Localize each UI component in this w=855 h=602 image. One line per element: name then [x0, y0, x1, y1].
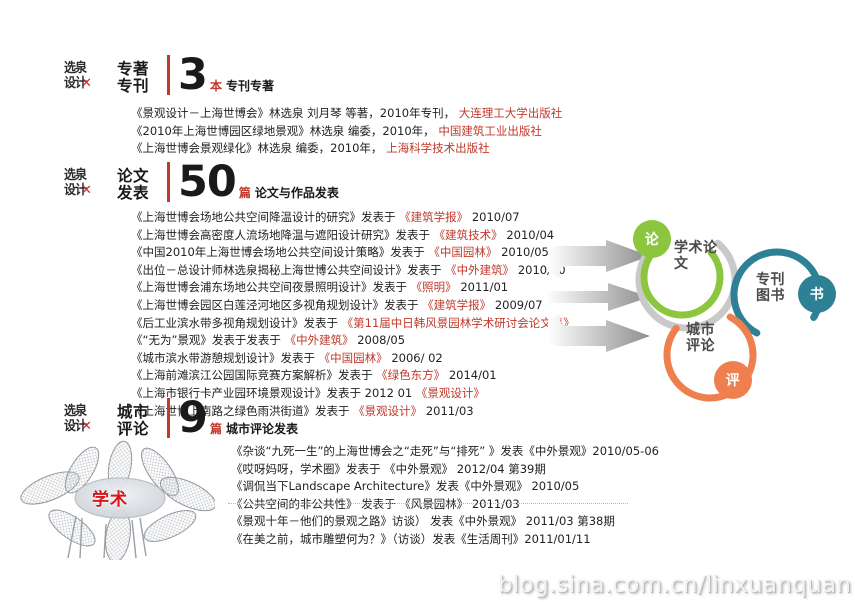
entry-item: 《城市滨水带游憩规划设计》发表于 《中国园林》 2006/ 02	[131, 350, 575, 368]
entry-text: 《2010年上海世博园区绿地景观》林选泉 编委，2010年，	[131, 124, 438, 138]
entry-item: 《上海世博会浦东场地公共空间夜景照明设计》发表于 《照明》 2011/01	[131, 279, 575, 297]
logo-line-1: 选泉	[64, 404, 106, 419]
entry-text: 2009/07	[495, 298, 543, 312]
entry-publication-name: 《中外建筑》	[285, 333, 358, 347]
entry-publication-name: 《建筑技术》	[434, 228, 507, 242]
badge-papers-label: 论	[645, 229, 660, 249]
entry-list-criticism: 《杂谈“九死一生”的上海世博会之“走死”与“排死” 》发表《中外景观》2010/…	[231, 443, 659, 549]
entry-text: 2010/05	[501, 245, 549, 259]
entry-text: 2014/01	[449, 368, 497, 382]
entry-item: 《上海世博会景观绿化》林选泉 编委，2010年， 上海科学技术出版社	[131, 140, 562, 158]
entry-text: 《杂谈“九死一生”的上海世博会之“走死”与“排死” 》发表《中外景观》2010/…	[231, 444, 659, 458]
entry-text: 《上海世博会景观绿化》林选泉 编委，2010年，	[131, 141, 386, 155]
entry-item: 《公共空间的非公共性》 发表于 《风景园林》 2011/03	[231, 496, 659, 514]
entry-publication-name: 《景观设计》	[416, 386, 485, 400]
poster-canvas: 选泉 设计 ✕ 专著 专刊 3 本 专刊专著 《景观设计－上海世博会》林选泉 刘…	[0, 0, 855, 602]
section-count: 9	[178, 398, 207, 438]
entry-publication-name: 《景观设计》	[353, 404, 426, 418]
section-title-line1: 论文	[117, 168, 149, 185]
entry-text: 2010/07	[472, 210, 520, 224]
badge-books-label: 书	[810, 284, 825, 304]
section-header-monograph: 选泉 设计 ✕ 专著 专刊 3 本 专刊专著	[64, 55, 274, 95]
badge-papers[interactable]: 论	[633, 220, 671, 258]
label-books-l1: 专刊	[756, 272, 800, 288]
entry-item: 《调侃当下Landscape Architecture》发表《中外景观》 201…	[231, 478, 659, 496]
section-header-papers: 选泉 设计 ✕ 论文 发表 50 篇 论文与作品发表	[64, 162, 339, 202]
entry-item: 《哎呀妈呀，学术圈》发表于 《中外景观》 2012/04 第39期	[231, 461, 659, 479]
entry-item: 《景观十年－他们的景观之路》访谈） 发表《中外景观》 2011/03 第38期	[231, 513, 659, 531]
entry-text: 《上海世博会高密度人流场地降温与遮阳设计研究》发表于	[131, 228, 434, 242]
section-title-line1: 专著	[117, 61, 149, 78]
entry-text: 《中国2010年上海世博会场地公共空间设计策略》发表于	[131, 245, 428, 259]
entry-item: 《上海世博会场地公共空间降温设计的研究》发表于 《建筑学报》 2010/07	[131, 209, 575, 227]
entry-item: 《在美之前，城市雕塑何为？》（访谈）发表《生活周刊》2011/01/11	[231, 531, 659, 549]
entry-text: 《上海前滩滨江公园国际竞赛方案解析》发表于	[131, 368, 376, 382]
brand-logo-icon: 选泉 设计 ✕	[64, 404, 110, 436]
section-unit: 本	[210, 77, 222, 94]
label-city-criticism-l2: 评论	[686, 338, 730, 354]
entry-publication-name: 《照明》	[411, 280, 461, 294]
section-title-line2: 专刊	[117, 78, 149, 95]
entry-publication-name: 《中国园林》	[319, 351, 392, 365]
entry-text: 《出位－总设计师林选泉揭秘上海世博公共空间设计》发表于	[131, 263, 445, 277]
section-title-line2: 评论	[117, 421, 149, 438]
logo-x-icon: ✕	[81, 77, 92, 90]
section-unit: 篇	[210, 420, 222, 437]
section-title-line2: 发表	[117, 185, 149, 202]
entry-text: 《调侃当下Landscape Architecture》发表《中外景观》 201…	[231, 479, 579, 493]
entry-publication-name: 上海科学技术出版社	[386, 141, 490, 155]
label-academic-papers-l2: 文	[674, 256, 730, 272]
entry-item: 《中国2010年上海世博会场地公共空间设计策略》发表于 《中国园林》 2010/…	[131, 244, 575, 262]
logo-x-icon: ✕	[81, 420, 92, 433]
entry-list-monograph: 《景观设计－上海世博会》林选泉 刘月琴 等著，2010年专刊， 大连理工大学出版…	[131, 105, 562, 158]
logo-line-1: 选泉	[64, 61, 106, 76]
logo-x-icon: ✕	[81, 184, 92, 197]
entry-text: 《在美之前，城市雕塑何为？》（访谈）发表《生活周刊》2011/01/11	[231, 532, 591, 546]
entry-item: 《2010年上海世博园区绿地景观》林选泉 编委，2010年， 中国建筑工业出版社	[131, 123, 562, 141]
entry-publication-name: 《中国园林》	[428, 245, 501, 259]
section-subtitle: 论文与作品发表	[255, 184, 339, 201]
entry-item: 《后工业滨水带多视角规划设计》发表于 《第11届中日韩风景园林学术研讨会论文集》	[131, 315, 575, 333]
label-academic-papers-l1: 学术论	[674, 240, 730, 256]
entry-item: 《“无为”景观》发表于发表于 《中外建筑》 2008/05	[131, 332, 575, 350]
entry-text: 《景观十年－他们的景观之路》访谈） 发表《中外景观》 2011/03 第38期	[231, 514, 615, 528]
badge-books[interactable]: 书	[798, 275, 836, 313]
entry-publication-name: 《绿色东方》	[376, 368, 449, 382]
entry-item: 《景观设计－上海世博会》林选泉 刘月琴 等著，2010年专刊， 大连理工大学出版…	[131, 105, 562, 123]
label-books-l2: 图书	[756, 288, 800, 304]
blog-watermark: blog.sina.com.cn/linxuanquan	[498, 572, 851, 598]
entry-item: 《上海前滩滨江公园国际竞赛方案解析》发表于 《绿色东方》 2014/01	[131, 367, 575, 385]
entry-text: 《上海世博会浦东场地公共空间夜景照明设计》发表于	[131, 280, 411, 294]
section-divider-bar	[167, 398, 170, 438]
entry-item: 《上海世博会高密度人流场地降温与遮阳设计研究》发表于 《建筑技术》 2010/0…	[131, 227, 575, 245]
entry-text: 2008/05	[357, 333, 405, 347]
label-books: 专刊 图书	[756, 272, 800, 304]
label-academic-papers: 学术论 文	[674, 240, 730, 272]
entry-publication-name: 《中外建筑》	[445, 263, 518, 277]
section-divider-bar	[167, 55, 170, 95]
entry-publication-name: 《建筑学报》	[422, 298, 495, 312]
label-city-criticism-l1: 城市	[686, 322, 730, 338]
badge-criticism[interactable]: 评	[714, 361, 752, 399]
brand-logo-icon: 选泉 设计 ✕	[64, 168, 110, 200]
entry-publication-name: 《第11届中日韩风景园林学术研讨会论文集》	[342, 316, 575, 330]
entry-item: 《出位－总设计师林选泉揭秘上海世博公共空间设计》发表于 《中外建筑》 2010/…	[131, 262, 575, 280]
section-divider-bar	[167, 162, 170, 202]
logo-line-1: 选泉	[64, 168, 106, 183]
entry-text: 《景观设计－上海世博会》林选泉 刘月琴 等著，2010年专刊，	[131, 106, 459, 120]
badge-criticism-label: 评	[726, 370, 741, 390]
section-count: 50	[178, 162, 236, 202]
entry-separator-rule	[228, 503, 628, 504]
category-ring-diagram: 论 书 评 学术论 文 专刊 图书 城市 评论	[612, 222, 855, 422]
section-subtitle: 专刊专著	[226, 77, 274, 94]
entry-text: 《上海世博会园区白莲泾河地区多视角规划设计》发表于	[131, 298, 422, 312]
entry-item: 《杂谈“九死一生”的上海世博会之“走死”与“排死” 》发表《中外景观》2010/…	[231, 443, 659, 461]
section-title-line1: 城市	[117, 404, 149, 421]
section-unit: 篇	[239, 184, 251, 201]
section-count: 3	[178, 55, 207, 95]
entry-publication-name: 《建筑学报》	[399, 210, 472, 224]
entry-text: 《哎呀妈呀，学术圈》发表于 《中外景观》 2012/04 第39期	[231, 462, 546, 476]
entry-text: 2011/01	[460, 280, 508, 294]
entry-text: 2011/03	[426, 404, 474, 418]
entry-text: 《城市滨水带游憩规划设计》发表于	[131, 351, 319, 365]
flower-label: 学术	[92, 485, 154, 505]
entry-publication-name: 大连理工大学出版社	[459, 106, 563, 120]
section-header-criticism: 选泉 设计 ✕ 城市 评论 9 篇 城市评论发表	[64, 398, 298, 438]
entry-publication-name: 中国建筑工业出版社	[438, 124, 542, 138]
entry-text: 2006/ 02	[391, 351, 442, 365]
entry-text: 《上海世博会场地公共空间降温设计的研究》发表于	[131, 210, 399, 224]
brand-logo-icon: 选泉 设计 ✕	[64, 61, 110, 93]
label-city-criticism: 城市 评论	[686, 322, 730, 354]
section-subtitle: 城市评论发表	[226, 420, 298, 437]
entry-text: 《后工业滨水带多视角规划设计》发表于	[131, 316, 342, 330]
entry-list-papers: 《上海世博会场地公共空间降温设计的研究》发表于 《建筑学报》 2010/07 《…	[131, 209, 575, 420]
entry-item: 《上海世博会园区白莲泾河地区多视角规划设计》发表于 《建筑学报》 2009/07	[131, 297, 575, 315]
entry-text: 《“无为”景观》发表于发表于	[131, 333, 285, 347]
